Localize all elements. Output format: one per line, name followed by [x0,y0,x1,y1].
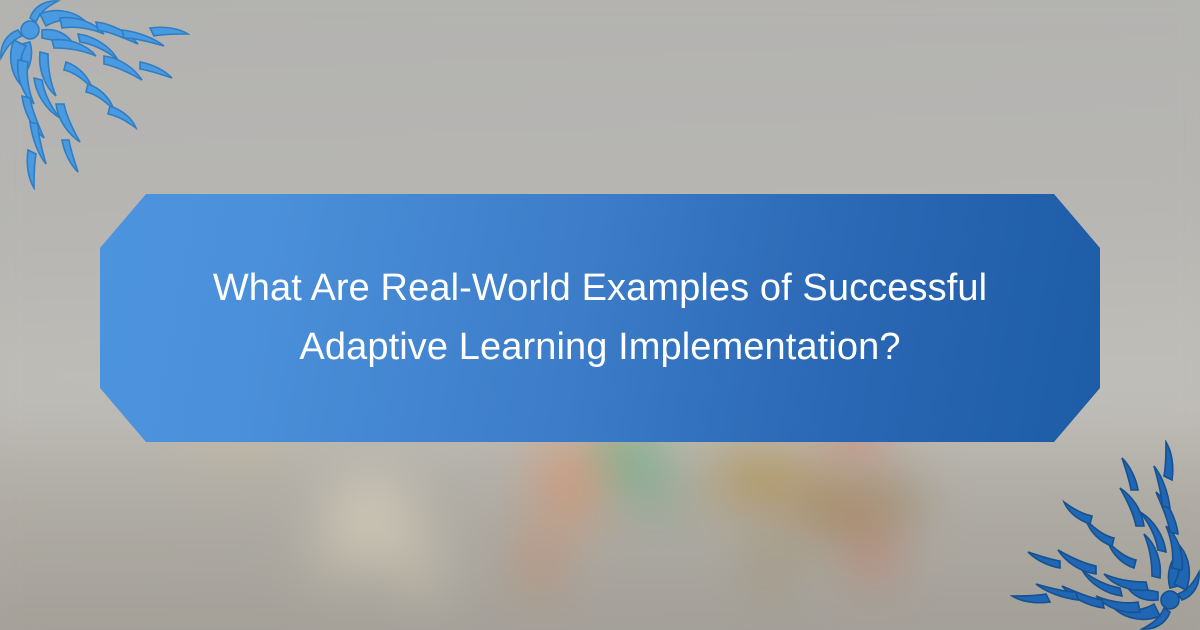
title-banner: What Are Real-World Examples of Successf… [100,194,1100,442]
page-title: What Are Real-World Examples of Successf… [210,259,990,377]
og-image-canvas: What Are Real-World Examples of Successf… [0,0,1200,630]
